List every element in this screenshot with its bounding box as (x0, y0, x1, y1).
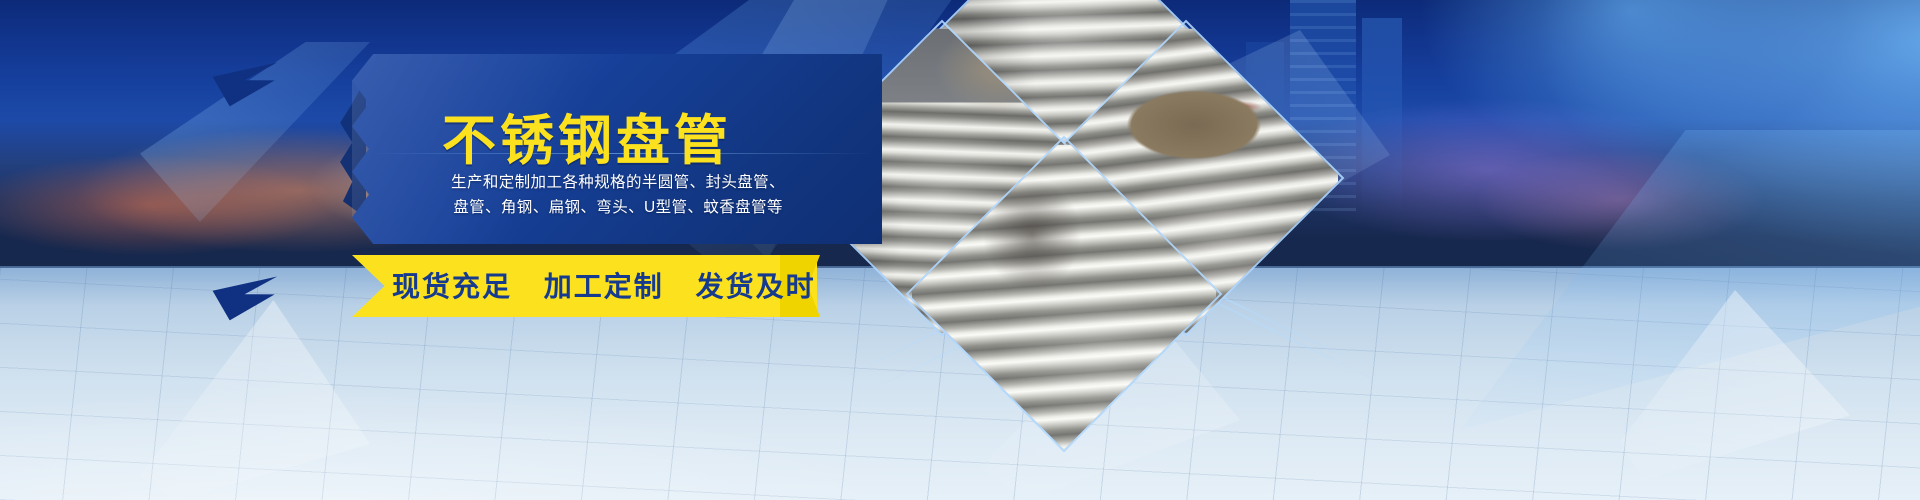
tagline: 现货充足 加工定制 发货及时 (392, 265, 792, 305)
banner-subtitle-line-2: 盘管、角钢、扁钢、弯头、U型管、蚊香盘管等 (408, 195, 828, 220)
banner-title: 不锈钢盘管 (442, 96, 732, 175)
banner-subtitle-line-1: 生产和定制加工各种规格的半圆管、封头盘管、 (408, 170, 828, 195)
tagline-item-3: 发货及时 (696, 271, 816, 302)
tagline-item-2: 加工定制 (544, 271, 664, 302)
banner-subtitle: 生产和定制加工各种规格的半圆管、封头盘管、 盘管、角钢、扁钢、弯头、U型管、蚊香… (408, 170, 828, 220)
product-banner: 不锈钢盘管 生产和定制加工各种规格的半圆管、封头盘管、 盘管、角钢、扁钢、弯头、… (0, 0, 1920, 500)
skyline-tower (1362, 18, 1402, 214)
tagline-item-1: 现货充足 (392, 271, 512, 302)
product-photo-collage (836, 0, 1296, 400)
